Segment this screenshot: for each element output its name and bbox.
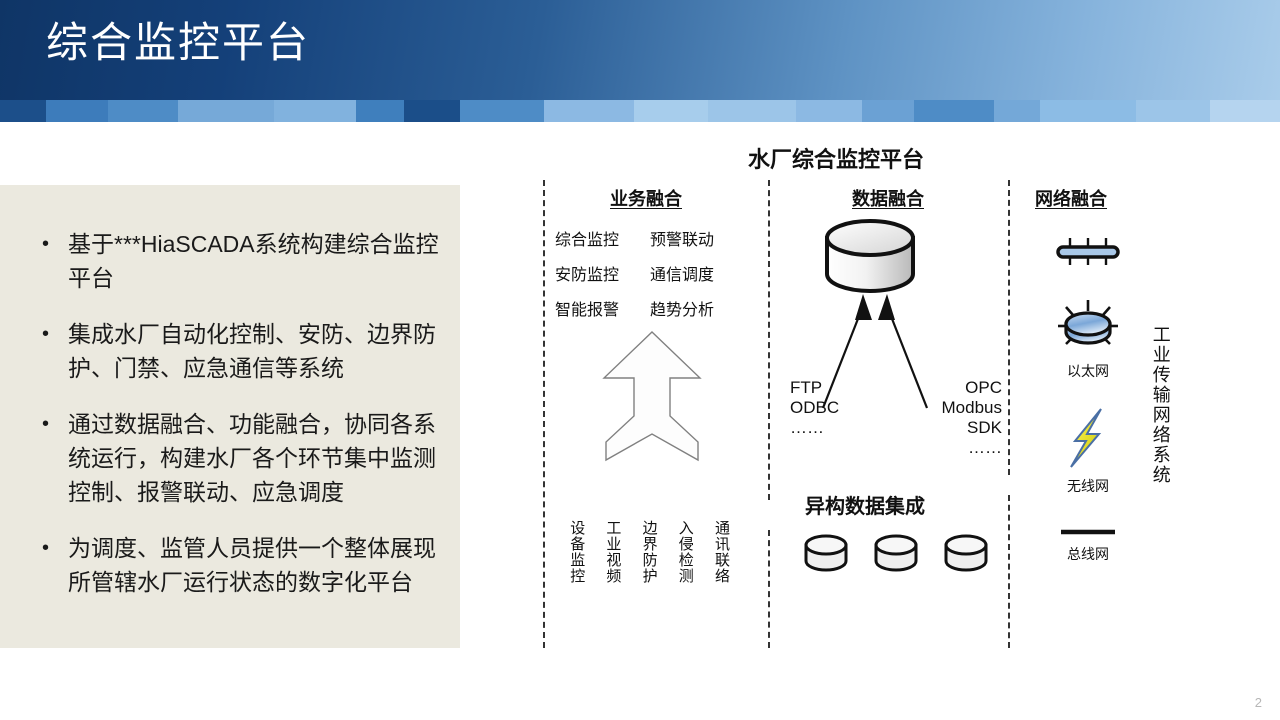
page-number: 2 xyxy=(1255,695,1262,710)
stripe-segment xyxy=(994,100,1040,122)
bullet-marker: • xyxy=(42,531,68,599)
small-database-icon xyxy=(802,532,850,574)
stripe-segment xyxy=(356,100,404,122)
protocol-label: FTP xyxy=(790,378,839,398)
business-items-grid: 综合监控 预警联动 安防监控 通信调度 智能报警 趋势分析 xyxy=(555,226,750,320)
protocol-label: …… xyxy=(910,438,1002,458)
protocol-label: SDK xyxy=(910,418,1002,438)
ethernet-hub-icon xyxy=(1040,298,1136,359)
bullet-text: 为调度、监管人员提供一个整体展现所管辖水厂运行状态的数字化平台 xyxy=(68,531,442,599)
bus-bar-icon xyxy=(1040,235,1136,276)
bullet-marker: • xyxy=(42,407,68,509)
page-title: 综合监控平台 xyxy=(46,22,310,64)
stripe-segment xyxy=(404,100,460,122)
stripe-segment xyxy=(274,100,356,122)
vertical-item: 边界防护 xyxy=(640,520,656,584)
business-item: 安防监控 xyxy=(555,261,650,285)
column-heading-data: 数据融合 xyxy=(852,185,924,211)
column-heading-business: 业务融合 xyxy=(610,185,682,211)
vertical-item: 工业视频 xyxy=(604,520,620,584)
vertical-item: 入侵检测 xyxy=(677,520,693,584)
network-icon-stack: 以太网 无线网 总线网 xyxy=(1040,235,1136,564)
protocol-label: Modbus xyxy=(910,398,1002,418)
protocol-label: OPC xyxy=(910,378,1002,398)
protocols-right: OPC Modbus SDK …… xyxy=(910,378,1002,458)
stripe-segment xyxy=(108,100,178,122)
stripe-segment xyxy=(634,100,708,122)
network-icon-label: 总线网 xyxy=(1040,544,1136,564)
bus-line-icon xyxy=(1040,524,1136,542)
business-item: 趋势分析 xyxy=(650,296,750,320)
bullet-panel: • 基于***HiaSCADA系统构建综合监控平台 • 集成水厂自动化控制、安防… xyxy=(0,185,460,648)
stripe-segment xyxy=(178,100,274,122)
diagram-title: 水厂综合监控平台 xyxy=(748,142,924,174)
stripe-segment xyxy=(46,100,108,122)
vertical-item: 设备监控 xyxy=(568,520,584,584)
list-item: • 通过数据融合、功能融合，协同各系统运行，构建水厂各个环节集中监测控制、报警联… xyxy=(42,407,442,509)
stripe-segment xyxy=(708,100,796,122)
business-item: 预警联动 xyxy=(650,226,750,250)
network-icon-label: 无线网 xyxy=(1040,476,1136,496)
small-database-icon xyxy=(872,532,920,574)
business-item: 通信调度 xyxy=(650,261,750,285)
list-item: • 为调度、监管人员提供一个整体展现所管辖水厂运行状态的数字化平台 xyxy=(42,531,442,599)
divider-mid-upper xyxy=(768,180,770,500)
bullet-list: • 基于***HiaSCADA系统构建综合监控平台 • 集成水厂自动化控制、安防… xyxy=(42,227,442,621)
divider-right-lower xyxy=(1008,495,1010,648)
stripe-segment xyxy=(914,100,994,122)
stripe-segment xyxy=(1040,100,1136,122)
business-item: 智能报警 xyxy=(555,296,650,320)
network-vertical-label: 工业传输网络系统 xyxy=(1150,325,1171,485)
network-icon-label: 以太网 xyxy=(1040,361,1136,381)
stripe-segment xyxy=(1210,100,1280,122)
stripe-segment xyxy=(862,100,914,122)
list-item: • 集成水厂自动化控制、安防、边界防护、门禁、应急通信等系统 xyxy=(42,317,442,385)
wireless-bolt-icon xyxy=(1040,407,1136,474)
hetero-database-row xyxy=(802,532,990,574)
stripe-segment xyxy=(1136,100,1210,122)
slide-header: 综合监控平台 xyxy=(0,0,1280,100)
bullet-text: 基于***HiaSCADA系统构建综合监控平台 xyxy=(68,227,442,295)
stripe-segment xyxy=(544,100,634,122)
bullet-marker: • xyxy=(42,317,68,385)
small-database-icon xyxy=(942,532,990,574)
business-item: 综合监控 xyxy=(555,226,650,250)
stripe-segment xyxy=(796,100,862,122)
architecture-diagram: 水厂综合监控平台 业务融合 综合监控 预警联动 安防监控 通信调度 智能报警 趋… xyxy=(500,130,1280,670)
column-heading-network: 网络融合 xyxy=(1035,185,1107,211)
business-vertical-items: 设备监控 工业视频 边界防护 入侵检测 通讯联络 xyxy=(568,520,729,584)
divider-right-upper xyxy=(1008,180,1010,475)
stripe-segment xyxy=(460,100,544,122)
stripe-segment xyxy=(0,100,46,122)
up-arrow-icon xyxy=(600,330,704,467)
list-item: • 基于***HiaSCADA系统构建综合监控平台 xyxy=(42,227,442,295)
protocols-left: FTP ODBC …… xyxy=(790,378,839,438)
protocol-label: ODBC xyxy=(790,398,839,418)
bullet-text: 通过数据融合、功能融合，协同各系统运行，构建水厂各个环节集中监测控制、报警联动、… xyxy=(68,407,442,509)
bullet-text: 集成水厂自动化控制、安防、边界防护、门禁、应急通信等系统 xyxy=(68,317,442,385)
vertical-item: 通讯联络 xyxy=(713,520,729,584)
hetero-data-heading: 异构数据集成 xyxy=(805,490,925,519)
divider-mid-lower xyxy=(768,530,770,648)
header-stripe-band xyxy=(0,100,1280,122)
bullet-marker: • xyxy=(42,227,68,295)
divider-left xyxy=(543,180,545,648)
protocol-label: …… xyxy=(790,418,839,438)
